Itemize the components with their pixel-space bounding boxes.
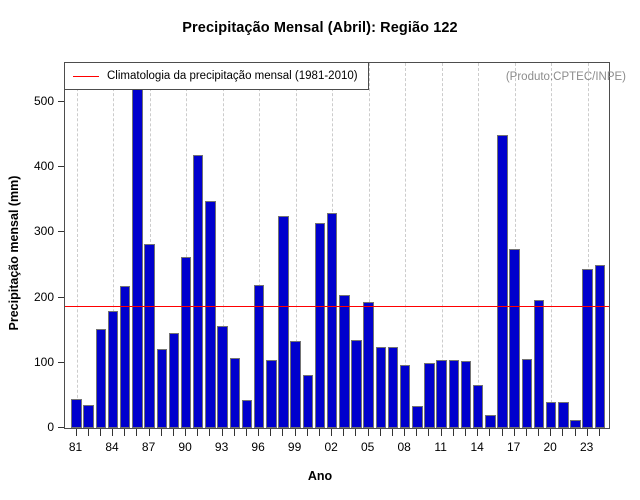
x-axis-tick (587, 429, 588, 436)
bar (351, 340, 361, 428)
y-axis-tick-label: 300 (34, 224, 54, 238)
x-axis-tick (502, 429, 503, 436)
bar (412, 406, 422, 428)
bar (181, 257, 191, 428)
chart-title: Precipitação Mensal (Abril): Região 122 (0, 20, 640, 36)
x-axis-tick (100, 429, 101, 436)
x-axis-tick (246, 429, 247, 436)
chart-figure: Precipitação Mensal (Abril): Região 122 … (0, 0, 640, 500)
y-axis-title: Precipitação mensal (mm) (7, 153, 21, 353)
x-axis-tick (343, 429, 344, 436)
x-axis: Ano 818487909396990205081114172023 (0, 429, 640, 500)
x-axis-tick (222, 429, 223, 436)
x-axis-tick-label: 23 (580, 440, 593, 454)
product-credit-label: (Produto:CPTEC/INPE) (506, 71, 626, 83)
bar (217, 326, 227, 428)
bar (157, 349, 167, 428)
bar (266, 360, 276, 428)
x-axis-tick-label: 14 (470, 440, 483, 454)
bar-series (65, 63, 609, 428)
x-axis-tick-label: 90 (178, 440, 191, 454)
bar (461, 361, 471, 428)
bar (436, 360, 446, 428)
bar (595, 265, 605, 428)
x-axis-tick (453, 429, 454, 436)
x-axis-tick (416, 429, 417, 436)
x-axis-tick (234, 429, 235, 436)
y-axis-tick-label: 500 (34, 94, 54, 108)
bar (108, 311, 118, 428)
bar (120, 286, 130, 428)
x-axis-tick-label: 87 (142, 440, 155, 454)
x-axis-tick (149, 429, 150, 436)
x-axis-tick-label: 11 (434, 440, 446, 454)
x-axis-tick (319, 429, 320, 436)
bar (242, 400, 252, 428)
x-axis-tick (282, 429, 283, 436)
x-axis-tick (392, 429, 393, 436)
x-axis-tick-label: 84 (105, 440, 118, 454)
x-axis-tick (599, 429, 600, 436)
bar (83, 405, 93, 428)
legend-line-swatch (73, 76, 99, 77)
x-axis-tick (477, 429, 478, 436)
bar (376, 347, 386, 428)
x-axis-tick (550, 429, 551, 436)
x-axis-tick-label: 99 (288, 440, 301, 454)
bar (169, 333, 179, 428)
x-axis-tick (428, 429, 429, 436)
bar (558, 402, 568, 428)
bar (193, 155, 203, 428)
bar (71, 399, 81, 428)
x-axis-tick-label: 17 (507, 440, 520, 454)
bar (144, 244, 154, 428)
x-axis-tick (258, 429, 259, 436)
legend: Climatologia da precipitação mensal (198… (64, 62, 369, 90)
bar (315, 223, 325, 428)
x-axis-tick (307, 429, 308, 436)
x-axis-tick (209, 429, 210, 436)
x-axis-tick-label: 96 (251, 440, 264, 454)
x-axis-tick-label: 05 (361, 440, 374, 454)
bar (449, 360, 459, 428)
bar (230, 358, 240, 428)
legend-label-climatology: Climatologia da precipitação mensal (198… (107, 70, 358, 82)
x-axis-tick (197, 429, 198, 436)
bar (582, 269, 592, 428)
x-axis-tick (270, 429, 271, 436)
y-axis-tick-label: 200 (34, 290, 54, 304)
bar (522, 359, 532, 428)
x-axis-tick (380, 429, 381, 436)
bar (278, 216, 288, 428)
bar (570, 420, 580, 428)
bar (339, 295, 349, 428)
x-axis-tick-label: 81 (69, 440, 82, 454)
x-axis-tick (112, 429, 113, 436)
x-axis-tick (185, 429, 186, 436)
bar (424, 363, 434, 428)
x-axis-tick (514, 429, 515, 436)
bar (132, 71, 142, 428)
bar (534, 300, 544, 428)
bar (290, 341, 300, 428)
bar (473, 385, 483, 428)
y-axis-tick-label: 400 (34, 159, 54, 173)
plot-area (64, 62, 610, 429)
x-axis-tick (124, 429, 125, 436)
climatology-reference-line (65, 306, 609, 307)
x-axis-tick (489, 429, 490, 436)
x-axis-tick (465, 429, 466, 436)
x-axis-tick-label: 20 (544, 440, 557, 454)
x-axis-tick (76, 429, 77, 436)
bar (303, 375, 313, 428)
bar (485, 415, 495, 428)
bar (497, 135, 507, 428)
bar (363, 302, 373, 428)
bar (400, 365, 410, 428)
x-axis-tick (173, 429, 174, 436)
bar (327, 213, 337, 428)
x-axis-tick-label: 93 (215, 440, 228, 454)
x-axis-tick (295, 429, 296, 436)
x-axis-tick (441, 429, 442, 436)
x-axis-tick (575, 429, 576, 436)
bar (546, 402, 556, 428)
y-axis: Precipitação mensal (mm) 010020030040050… (0, 0, 64, 500)
x-axis-tick (355, 429, 356, 436)
bar (509, 249, 519, 428)
x-axis-tick (331, 429, 332, 436)
x-axis-tick (538, 429, 539, 436)
x-axis-tick (88, 429, 89, 436)
x-axis-title: Ano (0, 469, 640, 483)
x-axis-tick (161, 429, 162, 436)
x-axis-tick (368, 429, 369, 436)
x-axis-tick (526, 429, 527, 436)
x-axis-tick (136, 429, 137, 436)
x-axis-tick (562, 429, 563, 436)
bar (96, 329, 106, 428)
x-axis-tick-label: 08 (397, 440, 410, 454)
x-axis-tick-label: 02 (324, 440, 337, 454)
bar (205, 201, 215, 428)
y-axis-tick-label: 100 (34, 355, 54, 369)
bar (388, 347, 398, 428)
x-axis-tick (404, 429, 405, 436)
